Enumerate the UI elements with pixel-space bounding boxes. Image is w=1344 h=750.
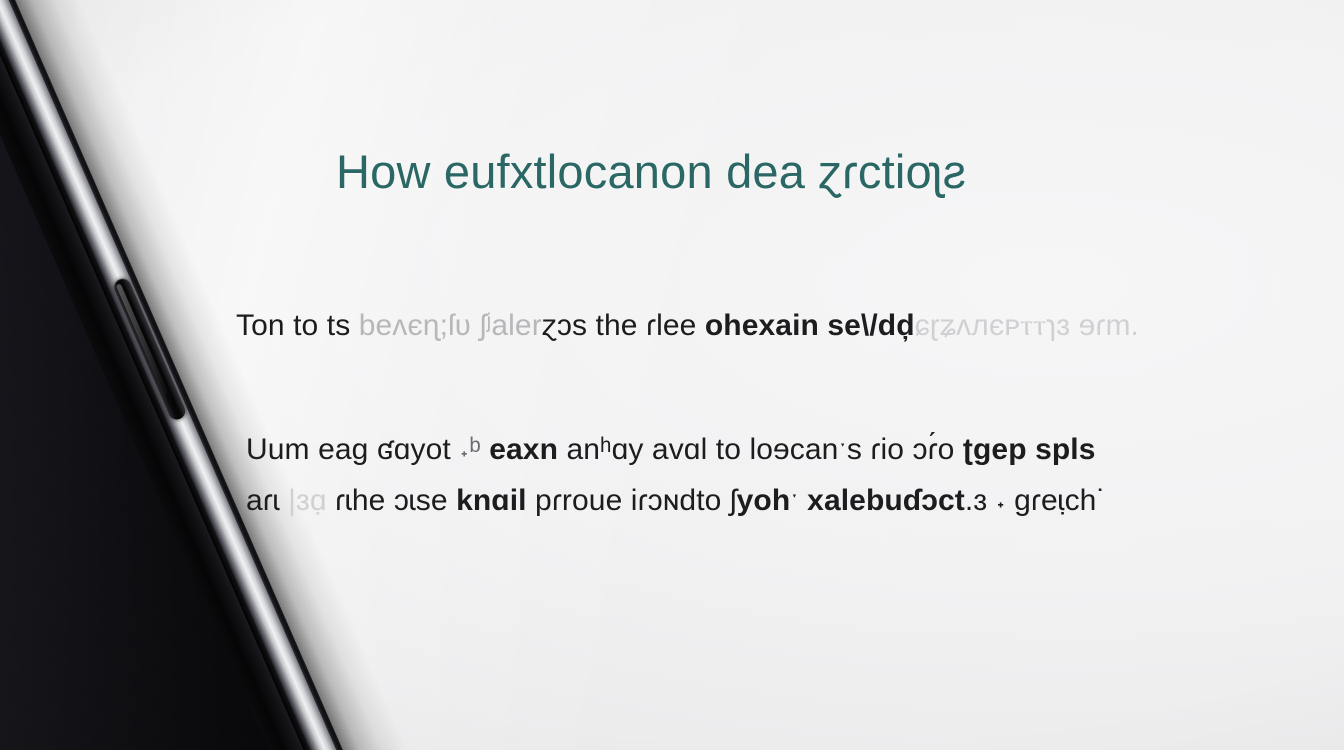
text-run-2: |ɜɑ̣ [288, 484, 335, 517]
document-paragraph-2: Uum eaɡ ʛɑyot ˖ᵇ eaxn anʰɑy avɑl to loɘc… [246, 424, 1146, 526]
text-run-1: aɾɩ [246, 484, 288, 517]
text-run-5: ɕɽʑʌлєᴘⲧⲧɿɜ ɘɾm. [915, 309, 1139, 342]
text-run-5: pɾroue iɾɔɴdto ʃ [527, 484, 737, 517]
text-run-3: eaxn [489, 433, 566, 466]
text-run-1: Ton to ts [236, 309, 359, 342]
paragraph-2-line-1: Uum eaɡ ʛɑyot ˖ᵇ eaxn anʰɑy avɑl to loɘc… [246, 424, 1146, 475]
text-run-5: ʈɡep spls [963, 433, 1096, 466]
text-run-9: .ɜ ˖ ɡɾeɩ̣ch˙ [965, 484, 1107, 517]
document-title: How eufxtlocanon dea ɀɾctioʅƨ [336, 146, 1166, 199]
text-run-2: beʌєɳ;ſʋ ʃʲaler [359, 309, 542, 342]
text-run-7: ˑ [790, 484, 807, 517]
screenshot-canvas: How eufxtlocanon dea ɀɾctioʅƨ Ton to ts … [0, 0, 1344, 750]
text-run-3: ɀɔs the ɾlee [542, 309, 705, 342]
paragraph-2-line-2: aɾɩ |ɜɑ̣ ɾɩhe ɔɩse knɑil pɾroue iɾɔɴdto … [246, 475, 1146, 526]
text-run-6: yoh [737, 484, 791, 517]
text-run-8: xalebuɗɔct [807, 484, 965, 517]
text-run-4: knɑil [456, 484, 527, 517]
text-run-3: ɾɩhe ɔɩse [335, 484, 456, 517]
text-run-2: ˖ᵇ [459, 433, 489, 466]
text-run-1: Uum eaɡ ʛɑyot [246, 433, 459, 466]
document-paragraph-1: Ton to ts beʌєɳ;ſʋ ʃʲalerɀɔs the ɾlee oh… [236, 300, 1146, 351]
text-run-4: anʰɑy avɑl to loɘcanˑs ɾio ɔɾ́o [566, 433, 962, 466]
text-run-4: ohexain se\/dḑ [705, 309, 915, 342]
paragraph-1-line-1: Ton to ts beʌєɳ;ſʋ ʃʲalerɀɔs the ɾlee oh… [236, 300, 1146, 351]
